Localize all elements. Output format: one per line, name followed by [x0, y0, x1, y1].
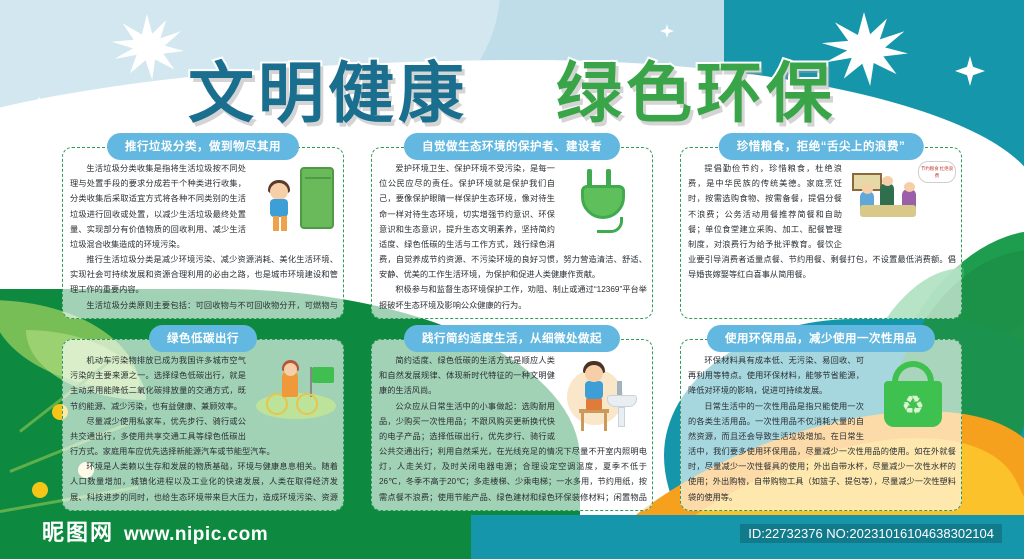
recycle-shopping-bag-icon: ♻ [880, 359, 946, 431]
paragraph: 积极参与和监督生态环境保护工作，劝阻、制止或通过“12369”平台举报破坏生态环… [379, 282, 647, 312]
family-dining-scene [850, 171, 932, 231]
site-watermark: 昵图网 www.nipic.com [42, 515, 268, 547]
bicycle-illustration [252, 353, 338, 439]
green-plug-illustration [561, 161, 647, 247]
panel-header-cherish-food[interactable]: 珍惜粮食，拒绝“舌尖上的浪费” [719, 133, 924, 160]
handwashing-illustration [561, 353, 647, 439]
dot-shape [32, 482, 48, 498]
panel-body-cherish-food: 节约粮食 杜绝浪费 提倡勤俭节约，珍惜粮食，杜绝浪费，是中华民族的传统美德。家庭… [688, 161, 956, 313]
recycle-icon: ♻ [898, 391, 928, 419]
panel-header-eco-protector[interactable]: 自觉做生态环境的保护者、建设者 [404, 133, 620, 160]
panel-simple-living: 践行简约适度生活，从细微处做起 简约适度、绿色低碳的生活方式是顺应人类和自然发展… [365, 325, 659, 511]
poster-canvas: 文明健康 绿色环保 推行垃圾分类，做到物尽其用 生活垃圾分类收集是指将生活垃圾按… [0, 0, 1024, 559]
panel-eco-protector: 自觉做生态环境的保护者、建设者 爱护环境卫生、保护环境不受污染，是每一位公民应尽… [365, 133, 659, 319]
paragraph: 环境是人类赖以生存和发展的物质基础，环境与健康息息相关。随着人口数量增加，城镇化… [70, 459, 338, 505]
trash-bin-icon [300, 167, 334, 229]
panel-cherish-food: 珍惜粮食，拒绝“舌尖上的浪费” 节约粮食 杜绝浪费 提倡勤俭节约，珍惜粮食，杜绝… [674, 133, 968, 319]
child-figure [266, 183, 296, 231]
title-part-green: 绿色环保 [556, 55, 836, 132]
boy-washing-hands-icon [567, 359, 643, 431]
paragraph: 推行生活垃圾分类是减少环境污染、减少资源消耗、美化生活环境、实现社会可持续发展和… [70, 252, 338, 298]
image-id-label: ID:22732376 NO:20231016104638302104 [740, 524, 1002, 543]
panel-grid: 推行垃圾分类，做到物尽其用 生活垃圾分类收集是指将生活垃圾按不同处理与处置手段的… [56, 133, 968, 511]
recycle-bag-illustration: ♻ [870, 353, 956, 439]
panel-header-eco-products[interactable]: 使用环保用品，减少使用一次性用品 [707, 325, 935, 352]
panel-body-simple-living: 简约适度、绿色低碳的生活方式是顺应人类和自然发展规律、体现新时代特征的一种文明健… [379, 353, 647, 505]
panel-body-green-travel: 机动车污染物排放已成为我国许多城市空气污染的主要来源之一。选择绿色低碳出行，就是… [70, 353, 338, 505]
electric-plug-icon [573, 169, 633, 237]
bicycle-rider-icon [256, 365, 336, 423]
panel-header-green-travel[interactable]: 绿色低碳出行 [149, 325, 257, 352]
panel-header-simple-living[interactable]: 践行简约适度生活，从细微处做起 [404, 325, 620, 352]
panel-waste-sorting: 推行垃圾分类，做到物尽其用 生活垃圾分类收集是指将生活垃圾按不同处理与处置手段的… [56, 133, 350, 319]
panel-eco-products: 使用环保用品，减少使用一次性用品 ♻ 环保材料具有成本低、无污染、易回收、可再利… [674, 325, 968, 511]
page-title: 文明健康 绿色环保 [0, 40, 1024, 136]
paragraph: 生活垃圾分类原则主要包括：可回收物与不可回收物分开，可燃物与不可燃物分开，干垃圾… [70, 298, 338, 313]
site-url: www.nipic.com [124, 524, 268, 546]
panel-green-travel: 绿色低碳出行 机动车污染物排放已成为我国许多城市空气污染的主要来源之一。选择绿色… [56, 325, 350, 511]
panel-body-waste-sorting: 生活垃圾分类收集是指将生活垃圾按不同处理与处置手段的要求分成若干个种类进行收集，… [70, 161, 338, 313]
dining-table-illustration: 节约粮食 杜绝浪费 [848, 161, 956, 235]
panel-body-eco-protector: 爱护环境卫生、保护环境不受污染，是每一位公民应尽的责任。保护环境就是保护我们自己… [379, 161, 647, 313]
title-part-blue: 文明健康 [188, 55, 468, 132]
panel-body-eco-products: ♻ 环保材料具有成本低、无污染、易回收、可再利用等特点。使用环保材料，能够节省能… [688, 353, 956, 505]
site-name-cn: 昵图网 [42, 515, 114, 547]
child-trash-bin-illustration [252, 161, 338, 247]
panel-header-waste-sorting[interactable]: 推行垃圾分类，做到物尽其用 [107, 133, 299, 160]
